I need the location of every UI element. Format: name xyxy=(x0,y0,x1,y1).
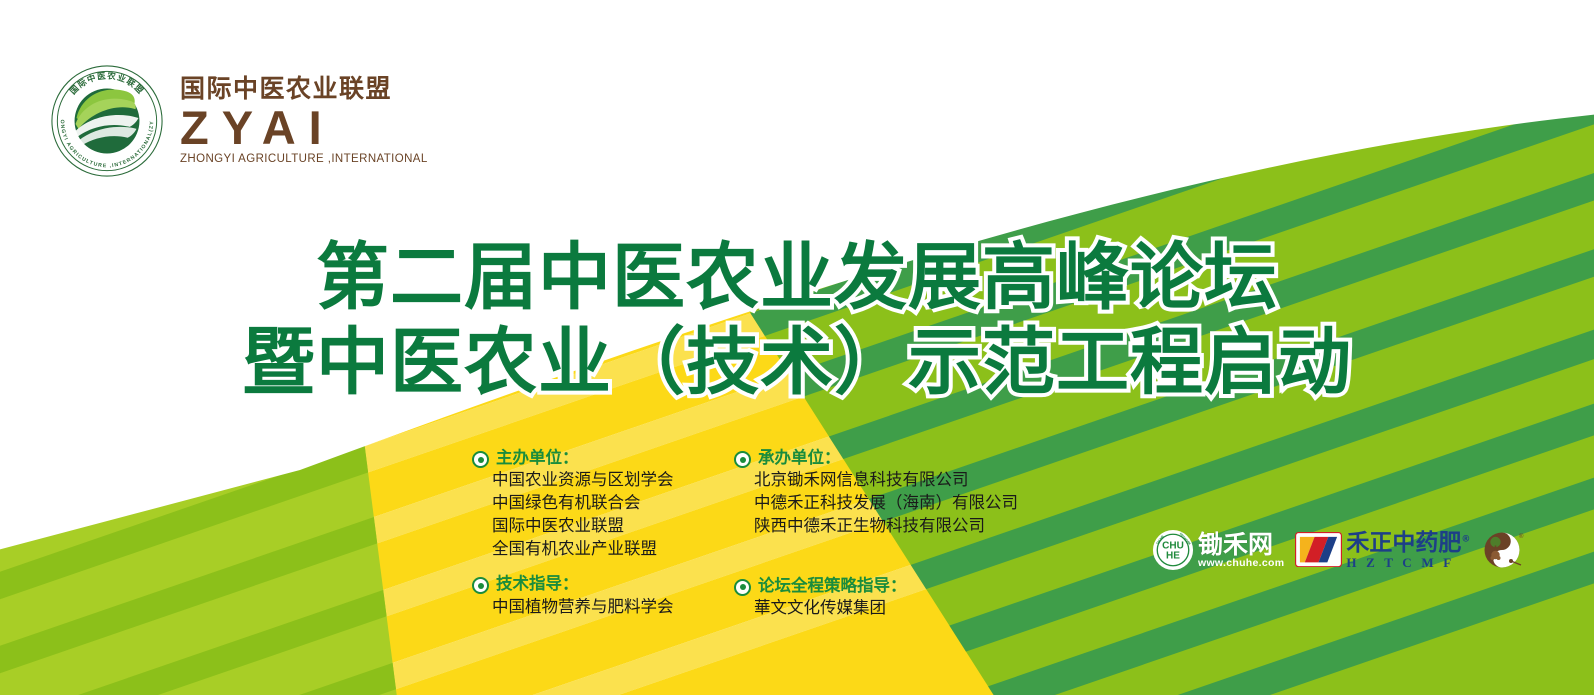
organizer-info: 主办单位： 中国农业资源与区划学会 中国绿色有机联合会 国际中医农业联盟 全国有… xyxy=(472,447,1064,620)
bullet-icon xyxy=(734,579,751,596)
tree-circle-icon: ® xyxy=(1481,528,1525,572)
hztcmf-name-cn: 禾正中药肥® xyxy=(1346,532,1470,555)
list-item: 華文文化传媒集团 xyxy=(754,597,1064,620)
list-item: 中国植物营养与肥料学会 xyxy=(492,596,734,619)
emblem-svg: 国际中医农业联盟 ZHONGYI AGRICULTURE ,INTERNATIO… xyxy=(48,62,166,180)
trademark-symbol: ® xyxy=(1519,533,1524,540)
hztcmf-wordmark: 禾正中药肥® H Z T C M F xyxy=(1346,532,1470,569)
chuhe-name: 锄禾网 xyxy=(1198,532,1284,557)
chuhe-badge-icon: CHU HE CHUHE NETWORK xyxy=(1152,529,1194,571)
hztcmf-mark-icon xyxy=(1295,532,1342,568)
sponsor-chuhe: CHU HE CHUHE NETWORK 锄禾网 www.chuhe.com xyxy=(1152,529,1284,571)
zyai-emblem-icon: 国际中医农业联盟 ZHONGYI AGRICULTURE ,INTERNATIO… xyxy=(48,62,166,180)
organizer-group-strategy-advisor: 论坛全程策略指导： 華文文化传媒集团 xyxy=(734,575,1064,620)
organizer-column-right: 承办单位： 北京锄禾网信息科技有限公司 中德禾正科技发展（海南）有限公司 陕西中… xyxy=(734,447,1064,620)
zyai-name-en: ZHONGYI AGRICULTURE ,INTERNATIONAL xyxy=(180,154,428,166)
bullet-icon xyxy=(734,451,751,468)
sponsor-hztcmf: 禾正中药肥® H Z T C M F xyxy=(1295,532,1470,569)
zyai-wordmark: 国际中医农业联盟 ZYAI ZHONGYI AGRICULTURE ,INTER… xyxy=(180,76,428,166)
group-heading-row: 主办单位： xyxy=(472,447,734,469)
group-heading: 承办单位： xyxy=(758,447,841,469)
bullet-icon xyxy=(472,577,489,594)
group-heading-row: 技术指导： xyxy=(472,573,734,595)
zyai-acronym: ZYAI xyxy=(180,104,428,151)
list-item: 中国绿色有机联合会 xyxy=(492,492,734,515)
svg-text:HE: HE xyxy=(1166,551,1180,562)
poster-canvas: 国际中医农业联盟 ZHONGYI AGRICULTURE ,INTERNATIO… xyxy=(0,0,1594,695)
hztcmf-mark-svg xyxy=(1295,532,1342,567)
zyai-logo: 国际中医农业联盟 ZHONGYI AGRICULTURE ,INTERNATIO… xyxy=(48,62,428,180)
trademark-symbol: ® xyxy=(1461,534,1470,544)
list-item: 陕西中德禾正生物科技有限公司 xyxy=(754,515,1064,538)
sponsor-logo-row: CHU HE CHUHE NETWORK 锄禾网 www.chuhe.com xyxy=(1152,528,1525,572)
chuhe-url: www.chuhe.com xyxy=(1198,558,1284,569)
sponsor-tree-mark: ® xyxy=(1481,528,1525,572)
tree-mark-svg: ® xyxy=(1481,528,1525,572)
zyai-name-cn: 国际中医农业联盟 xyxy=(180,76,428,101)
organizer-column-left: 主办单位： 中国农业资源与区划学会 中国绿色有机联合会 国际中医农业联盟 全国有… xyxy=(472,447,734,620)
list-item: 中德禾正科技发展（海南）有限公司 xyxy=(754,492,1064,515)
organizer-group-co-host: 承办单位： 北京锄禾网信息科技有限公司 中德禾正科技发展（海南）有限公司 陕西中… xyxy=(734,447,1064,538)
group-heading: 技术指导： xyxy=(496,573,579,595)
chuhe-badge-svg: CHU HE CHUHE NETWORK xyxy=(1152,529,1194,571)
group-heading: 论坛全程策略指导： xyxy=(758,575,907,597)
list-item: 国际中医农业联盟 xyxy=(492,515,734,538)
group-heading-row: 承办单位： xyxy=(734,447,1064,469)
organizer-group-host: 主办单位： 中国农业资源与区划学会 中国绿色有机联合会 国际中医农业联盟 全国有… xyxy=(472,447,734,560)
list-item: 北京锄禾网信息科技有限公司 xyxy=(754,469,1064,492)
hztcmf-name-en: H Z T C M F xyxy=(1346,556,1470,569)
group-heading: 主办单位： xyxy=(496,447,579,469)
group-heading-row: 论坛全程策略指导： xyxy=(734,575,1064,597)
list-item: 中国农业资源与区划学会 xyxy=(492,469,734,492)
list-item: 全国有机农业产业联盟 xyxy=(492,538,734,561)
chuhe-wordmark: 锄禾网 www.chuhe.com xyxy=(1198,532,1284,569)
organizer-group-tech-advisor: 技术指导： 中国植物营养与肥料学会 xyxy=(472,573,734,618)
bullet-icon xyxy=(472,451,489,468)
